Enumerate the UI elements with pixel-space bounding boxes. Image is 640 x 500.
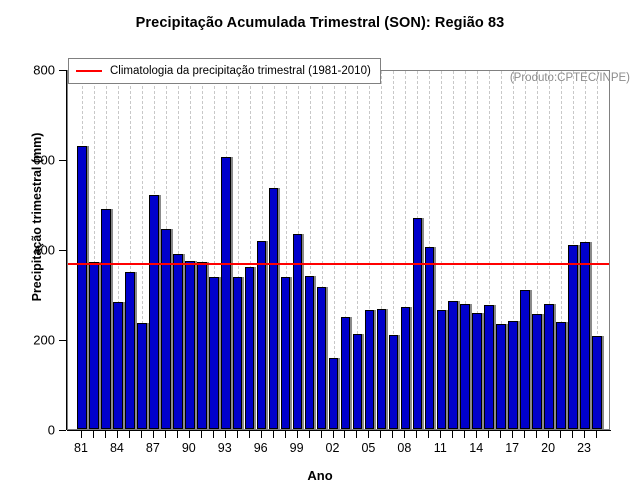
x-tick-mark — [81, 431, 82, 438]
bar[interactable] — [532, 314, 542, 429]
bar[interactable] — [353, 334, 363, 429]
x-tick-label: 02 — [326, 441, 340, 455]
x-tick-mark — [297, 431, 298, 438]
bar[interactable] — [592, 336, 602, 429]
x-tick-label: 20 — [541, 441, 555, 455]
x-tick-mark — [476, 431, 477, 438]
y-tick-label: 0 — [15, 423, 55, 438]
chart-title: Precipitação Acumulada Trimestral (SON):… — [0, 15, 640, 31]
bar[interactable] — [161, 229, 171, 429]
bar[interactable] — [173, 254, 183, 429]
climatology-reference-line — [68, 263, 609, 265]
y-tick-mark — [59, 160, 66, 161]
bar[interactable] — [329, 358, 339, 429]
x-tick-mark — [189, 431, 190, 438]
x-tick-mark — [428, 431, 429, 438]
bar[interactable] — [197, 262, 207, 429]
bar[interactable] — [508, 321, 518, 429]
x-tick-mark — [440, 431, 441, 438]
bar[interactable] — [580, 242, 590, 429]
x-tick-label: 90 — [182, 441, 196, 455]
bar[interactable] — [377, 309, 387, 429]
bar[interactable] — [437, 310, 447, 429]
x-tick-mark — [165, 431, 166, 438]
x-tick-mark — [512, 431, 513, 438]
bar[interactable] — [484, 305, 494, 429]
legend: Climatologia da precipitação trimestral … — [68, 58, 381, 84]
x-tick-mark — [129, 431, 130, 438]
bar[interactable] — [413, 218, 423, 429]
bar[interactable] — [425, 247, 435, 429]
x-tick-mark — [464, 431, 465, 438]
bar[interactable] — [472, 313, 482, 429]
x-tick-mark — [524, 431, 525, 438]
bar[interactable] — [556, 322, 566, 429]
x-tick-mark — [380, 431, 381, 438]
x-tick-mark — [153, 431, 154, 438]
bar[interactable] — [245, 267, 255, 429]
x-tick-label: 96 — [254, 441, 268, 455]
x-tick-mark — [536, 431, 537, 438]
plot-area — [67, 70, 610, 430]
x-tick-label: 17 — [505, 441, 519, 455]
y-axis-title: Precipitação trimestral (mm) — [30, 92, 44, 342]
x-tick-label: 05 — [361, 441, 375, 455]
x-tick-mark — [177, 431, 178, 438]
bar[interactable] — [269, 188, 279, 429]
bar[interactable] — [257, 241, 267, 429]
chart-container: Precipitação Acumulada Trimestral (SON):… — [0, 0, 640, 500]
bar[interactable] — [209, 277, 219, 429]
bar[interactable] — [221, 157, 231, 429]
x-tick-mark — [416, 431, 417, 438]
x-tick-mark — [500, 431, 501, 438]
x-tick-mark — [344, 431, 345, 438]
bar[interactable] — [125, 272, 135, 429]
bar[interactable] — [149, 195, 159, 429]
bar[interactable] — [544, 304, 554, 429]
bar[interactable] — [77, 146, 87, 429]
legend-line-swatch — [76, 70, 102, 72]
x-tick-mark — [404, 431, 405, 438]
bar[interactable] — [568, 245, 578, 429]
x-tick-mark — [548, 431, 549, 438]
bar[interactable] — [185, 261, 195, 429]
bar[interactable] — [341, 317, 351, 429]
bar[interactable] — [448, 301, 458, 429]
bar[interactable] — [305, 276, 315, 429]
x-tick-label: 14 — [469, 441, 483, 455]
bar[interactable] — [317, 287, 327, 429]
bar[interactable] — [365, 310, 375, 429]
x-tick-label: 11 — [434, 441, 447, 455]
y-tick-label: 800 — [15, 63, 55, 78]
x-tick-label: 81 — [74, 441, 88, 455]
bar[interactable] — [281, 277, 291, 429]
x-tick-mark — [333, 431, 334, 438]
x-tick-mark — [213, 431, 214, 438]
x-tick-label: 84 — [110, 441, 124, 455]
bar[interactable] — [101, 209, 111, 429]
bar[interactable] — [401, 307, 411, 429]
x-tick-mark — [488, 431, 489, 438]
y-tick-mark — [59, 250, 66, 251]
x-tick-mark — [285, 431, 286, 438]
x-tick-mark — [572, 431, 573, 438]
bar[interactable] — [89, 262, 99, 429]
x-tick-mark — [105, 431, 106, 438]
bar[interactable] — [233, 277, 243, 429]
x-tick-mark — [237, 431, 238, 438]
x-tick-mark — [368, 431, 369, 438]
bar[interactable] — [137, 323, 147, 429]
x-tick-label: 08 — [397, 441, 411, 455]
x-tick-label: 87 — [146, 441, 160, 455]
bar[interactable] — [520, 290, 530, 429]
y-tick-mark — [59, 70, 66, 71]
x-tick-mark — [309, 431, 310, 438]
bar[interactable] — [460, 304, 470, 429]
y-axis-line — [66, 70, 67, 430]
x-axis-line — [67, 430, 611, 431]
x-tick-mark — [452, 431, 453, 438]
x-tick-mark — [392, 431, 393, 438]
x-tick-mark — [249, 431, 250, 438]
x-tick-mark — [560, 431, 561, 438]
product-credit: (Produto:CPTEC/INPE) — [510, 72, 630, 84]
x-tick-mark — [321, 431, 322, 438]
x-tick-label: 93 — [218, 441, 232, 455]
y-tick-mark — [59, 340, 66, 341]
x-tick-mark — [356, 431, 357, 438]
x-tick-label: 23 — [577, 441, 591, 455]
x-tick-mark — [596, 431, 597, 438]
x-tick-mark — [201, 431, 202, 438]
x-tick-mark — [93, 431, 94, 438]
x-tick-mark — [273, 431, 274, 438]
bar[interactable] — [113, 302, 123, 429]
x-tick-label: 99 — [290, 441, 304, 455]
x-tick-mark — [117, 431, 118, 438]
bar[interactable] — [389, 335, 399, 429]
y-tick-mark — [59, 430, 66, 431]
bar[interactable] — [496, 324, 506, 429]
x-tick-mark — [141, 431, 142, 438]
x-tick-mark — [261, 431, 262, 438]
x-tick-mark — [584, 431, 585, 438]
legend-label: Climatologia da precipitação trimestral … — [110, 65, 371, 77]
x-axis-title: Ano — [0, 468, 640, 483]
x-tick-mark — [225, 431, 226, 438]
